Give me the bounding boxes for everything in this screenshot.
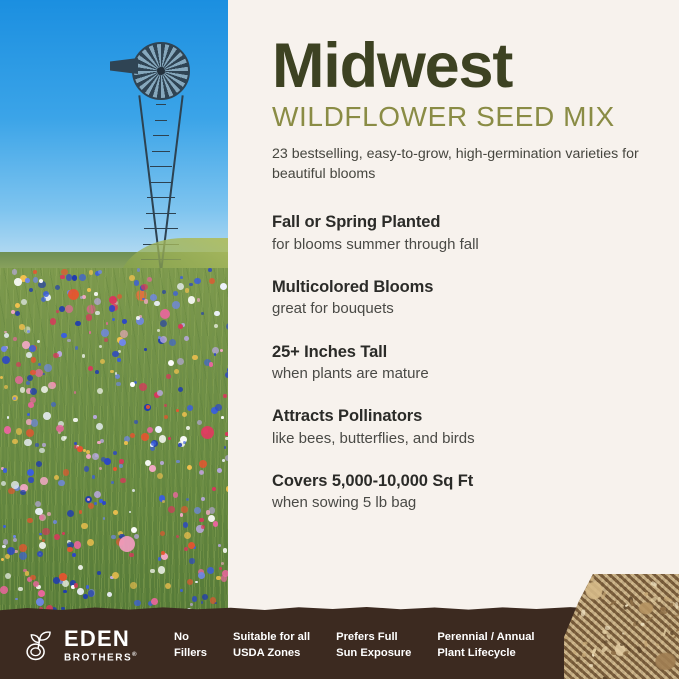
feature-title: Covers 5,000-10,000 Sq Ft [272,471,657,492]
bloom [141,433,149,441]
bloom [212,487,216,491]
bloom [155,426,162,433]
bloom [92,453,99,460]
bloom [116,382,121,387]
bloom [72,553,76,557]
bloom [192,596,198,602]
bloom [38,590,45,597]
bloom [183,441,186,444]
bloom [115,374,120,379]
bloom [147,277,152,282]
bloom [94,502,97,505]
page-title: Midwest [272,36,657,96]
bloom [75,321,81,327]
bloom [14,278,22,286]
windmill-rung [144,228,178,229]
bloom [201,601,204,604]
bloom [30,575,35,580]
bloom [206,510,211,515]
bloom [202,594,208,600]
bloom [120,330,128,338]
bloom [73,418,77,422]
feature-description: when sowing 5 lb bag [272,493,657,513]
bloom [141,284,147,290]
bloom [201,525,205,529]
bloom [89,270,94,275]
windmill-rung [152,151,171,152]
bloom [42,539,45,542]
bloom [94,292,98,296]
bloom [36,461,42,467]
bloom [75,346,78,349]
bloom [150,569,155,574]
bloom [47,512,51,516]
bloom [67,547,73,553]
bloom [97,388,103,394]
bloom [195,581,198,584]
bloom [35,501,41,507]
bloom [39,542,46,549]
bloom [3,539,8,544]
bloom [149,465,156,472]
bloom [27,375,33,381]
bloom [159,435,166,442]
bloom [189,283,193,287]
bloom [214,324,218,328]
bloom [134,381,137,384]
bloom [132,489,135,492]
bloom [30,370,35,375]
bloom [74,541,82,549]
bloom [95,370,99,374]
bloom [27,518,32,523]
bloom [168,360,174,366]
bloom [20,490,26,496]
bloom [223,394,227,398]
bloom [16,362,22,368]
bloom [61,436,66,441]
bloom [180,276,183,279]
bloom [12,269,18,275]
bloom [31,419,39,427]
bloom [29,288,33,292]
bloom [181,506,188,513]
bloom [221,416,224,419]
bloom [112,318,116,322]
bloom [56,310,59,313]
footer-bar: EDEN BROTHERS® No FillersSuitable for al… [0,612,679,679]
bloom [61,333,66,338]
bloom [151,598,158,605]
bloom [35,443,39,447]
bloom [54,534,60,540]
bloom [184,336,189,341]
feature-title: Multicolored Blooms [272,277,657,298]
bloom [3,525,6,528]
bloom [112,351,119,358]
bloom [160,461,164,465]
bloom [218,544,221,547]
bloom [37,551,43,557]
bloom [89,331,92,334]
bloom [83,594,88,599]
bloom [176,409,179,412]
bloom [199,518,204,523]
bloom [22,341,30,349]
bloom [30,397,36,403]
bloom [215,404,222,411]
bloom [55,285,60,290]
product-infographic-card: Midwest WILDFLOWER SEED MIX 23 bestselli… [0,0,679,679]
product-subtitle: WILDFLOWER SEED MIX [272,102,657,131]
bloom [198,572,205,579]
bloom [60,275,65,280]
bloom [7,416,10,419]
bloom [124,441,128,445]
windmill-rung [156,104,166,105]
bloom [88,366,93,371]
bloom [157,473,164,480]
bloom [53,353,58,358]
bloom [98,270,102,274]
bloom [178,324,183,329]
bloom [41,386,48,393]
bloom [50,318,57,325]
bloom [190,603,193,606]
bloom [113,510,118,515]
bloom [97,441,101,445]
bloom [137,268,141,272]
bloom [134,600,140,606]
bloom [177,283,184,290]
bloom [180,589,183,592]
feature-list: Fall or Spring Plantedfor blooms summer … [272,212,657,513]
bloom [83,449,86,452]
bloom [66,274,73,281]
bloom [107,592,112,597]
feature-description: great for bouquets [272,299,657,319]
bloom [185,288,190,293]
bloom [214,353,217,356]
windmill-rung [149,182,174,183]
bloom [4,333,9,338]
bloom [44,364,52,372]
bloom [209,362,214,367]
bloom [79,510,83,514]
bloom [59,573,67,581]
bloom [99,467,102,470]
bloom [184,532,191,539]
feature-item: Covers 5,000-10,000 Sq Ftwhen sowing 5 l… [272,471,657,514]
bloom [30,388,37,395]
bloom [102,501,106,505]
bloom [209,278,215,284]
windmill-hub [157,67,165,75]
bloom [5,573,11,579]
bloom [145,460,151,466]
bloom [174,369,179,374]
bloom [67,510,74,517]
bloom [27,469,34,476]
bloom [106,322,109,325]
bloom [173,492,178,497]
bloom [53,520,57,524]
bloom [162,290,166,294]
bloom [165,583,171,589]
bloom [134,534,139,539]
bloom [169,339,177,347]
brand-logo: EDEN BROTHERS® [22,628,138,663]
bloom [158,566,165,573]
bloom [164,404,167,407]
bloom [112,572,119,579]
bloom [25,278,30,283]
bloom [187,405,193,411]
bloom [197,420,202,425]
bloom [130,582,137,589]
bloom [188,296,196,304]
bloom [31,357,37,363]
bloom [87,288,91,292]
bloom [39,533,42,536]
bloom [19,324,25,330]
bloom [134,280,140,286]
bloom [39,448,44,453]
bloom [79,274,86,281]
bloom [178,387,183,392]
bloom [41,297,46,302]
bloom [220,283,228,291]
feature-badge: Suitable for all USDA Zones [233,630,310,660]
bloom [25,571,29,575]
bloom [86,585,89,588]
focal-bloom [119,536,135,552]
bloom [160,336,168,344]
bloom [147,427,153,433]
bloom [129,553,133,557]
bloom [58,480,65,487]
feature-badges: No FillersSuitable for all USDA ZonesPre… [174,630,534,660]
bloom [154,301,159,306]
bloom [74,391,77,394]
feature-description: for blooms summer through fall [272,235,657,255]
bloom [187,465,192,470]
bloom [4,426,12,434]
bloom [208,268,212,272]
feature-description: like bees, butterflies, and birds [272,429,657,449]
feature-item: Multicolored Bloomsgreat for bouquets [272,277,657,320]
bloom [122,319,127,324]
bloom [84,466,89,471]
bloom [166,374,171,379]
windmill-rung [155,120,168,121]
bloom [88,590,94,596]
bloom [176,535,179,538]
focal-bloom [201,426,214,439]
bloom [101,329,109,337]
bloom [26,429,34,437]
bloom [43,412,51,420]
bloom [63,590,67,594]
bloom [223,548,227,552]
feature-title: Fall or Spring Planted [272,212,657,233]
bloom [182,412,187,417]
bloom [15,311,20,316]
bloom [33,270,37,274]
bloom [77,588,84,595]
bloom [95,311,100,316]
bloom [160,320,167,327]
bloom [216,576,220,580]
bloom [15,303,20,308]
bloom [113,451,117,455]
bloom [72,275,77,280]
bloom [94,491,101,498]
feature-item: Attracts Pollinatorslike bees, butterfli… [272,406,657,449]
bloom [192,355,197,360]
bloom [213,521,219,527]
bloom [0,586,8,594]
bloom [168,437,171,440]
bloom [129,511,132,514]
bloom [59,306,65,312]
bloom [62,580,69,587]
bloom [111,481,114,484]
bloom [199,460,207,468]
bloom [92,475,96,479]
bloom [180,513,184,517]
windmill-rung [146,213,177,214]
meadow-region [0,268,228,612]
windmill-rung [150,166,172,167]
feature-title: 25+ Inches Tall [272,342,657,363]
bloom [120,478,125,483]
bloom [86,454,91,459]
bloom [13,337,17,341]
bloom [1,558,4,561]
bloom [2,545,5,548]
feature-item: Fall or Spring Plantedfor blooms summer … [272,212,657,255]
bloom [186,426,190,430]
bloom [157,329,160,332]
windmill-tail-vane [110,58,138,74]
bloom [80,296,83,299]
bloom [15,376,23,384]
bloom [201,497,205,501]
bloom [189,558,194,563]
bloom [11,481,19,489]
bloom [100,359,105,364]
bloom [103,517,106,520]
bloom [63,469,69,475]
bloom [96,423,103,430]
bloom [130,433,135,438]
bloom [88,503,94,509]
bloom [13,397,16,400]
bloom [24,439,31,446]
bloom [177,358,184,365]
bloom [99,345,102,348]
windmill-rung [147,197,175,198]
feature-title: Attracts Pollinators [272,406,657,427]
bloom [176,460,179,463]
bloom [18,587,22,591]
bloom [172,301,180,309]
bloom [7,547,15,555]
bloom [81,523,87,529]
bloom [117,358,121,362]
bloom [197,298,201,302]
bloom [36,598,44,606]
windmill-wildflower-meadow-photo [0,0,228,612]
bloom [48,382,55,389]
bloom [157,390,163,396]
bloom [144,299,148,303]
bloom [144,348,147,351]
bloom [62,532,65,535]
bloom [35,369,43,377]
bloom [15,598,18,601]
bloom [199,470,204,475]
feature-badge: Perennial / Annual Plant Lifecycle [437,630,534,660]
bloom [19,544,27,552]
bloom [111,535,116,540]
bloom [219,567,222,570]
bloom [4,385,8,389]
feature-item: 25+ Inches Tallwhen plants are mature [272,342,657,385]
bloom [74,583,78,587]
bloom [194,507,201,514]
bloom [42,528,50,536]
bloom [51,402,56,407]
bloom [16,428,23,435]
bloom [0,376,3,379]
bloom [214,311,220,317]
focal-bloom [160,309,170,319]
bloom [201,312,204,315]
bloom [184,547,188,551]
bloom [3,468,8,473]
bloom [183,522,188,527]
bloom [19,552,27,560]
bloom [104,338,108,342]
bloom [2,356,10,364]
product-description: 23 bestselling, easy-to-grow, high-germi… [272,144,657,184]
bloom [97,571,101,575]
bloom [221,562,224,565]
bloom [117,294,122,299]
bloom [28,402,34,408]
brand-name-secondary: BROTHERS® [64,652,138,663]
bloom [168,506,175,513]
bloom [26,381,30,385]
bloom [186,498,189,501]
bloom [217,468,222,473]
bloom [42,373,45,376]
bloom [27,413,30,416]
bloom [94,298,101,305]
focal-bloom [68,289,79,300]
bloom [134,420,138,424]
bloom [194,278,201,285]
bloom [113,467,117,471]
bloom [37,340,40,343]
sprout-seed-icon [22,628,56,662]
bloom [119,464,123,468]
bloom [56,425,63,432]
bloom [42,443,45,446]
bloom [29,345,36,352]
